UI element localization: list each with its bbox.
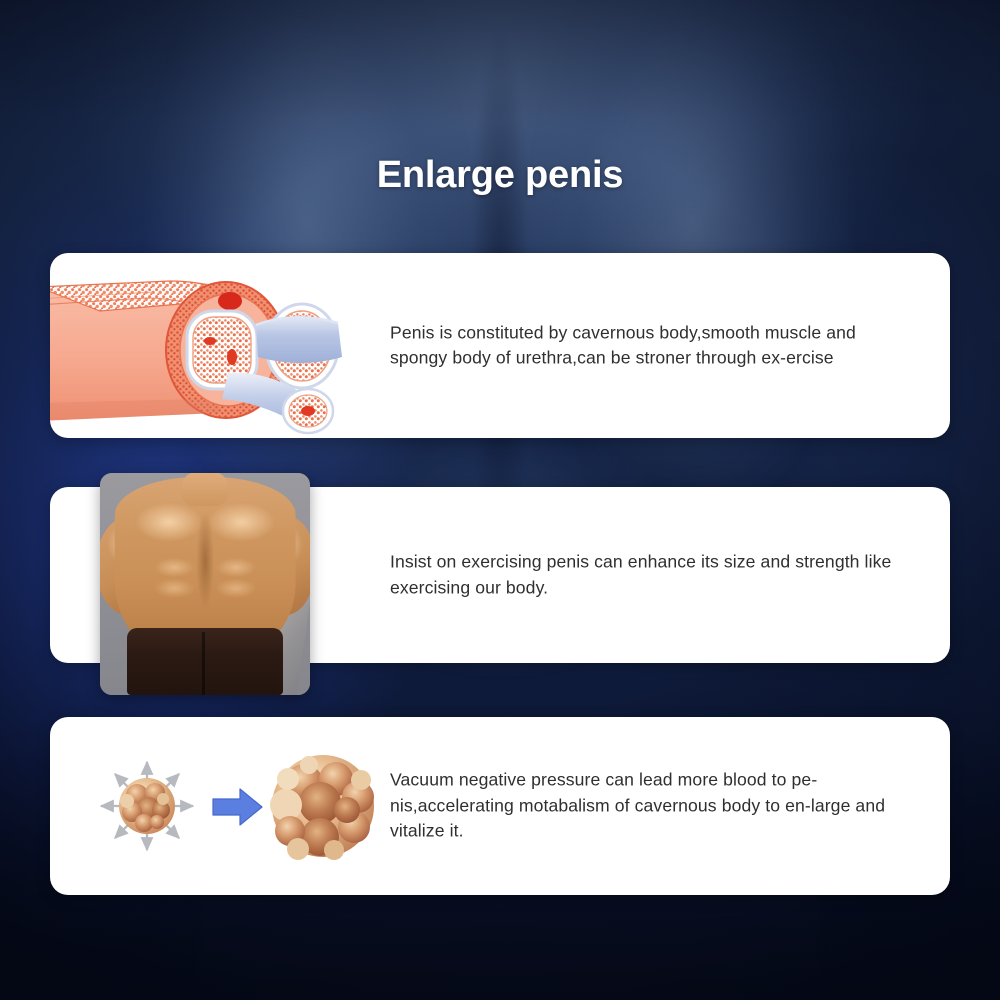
card-3-description: Vacuum negative pressure can lead more b… [390,767,908,844]
photo-neck [182,473,228,506]
cell-cluster-expansion-illustration [58,717,388,895]
blue-arrow [213,789,262,825]
card-2-description: Insist on exercising penis can enhance i… [390,549,908,600]
card-1-description: Penis is constituted by cavernous body,s… [390,320,908,371]
feature-card-vacuum: Vacuum negative pressure can lead more b… [50,717,950,895]
promotional-infographic-page: Enlarge penis in a physically safe metho… [0,0,1000,1000]
feature-card-anatomy: Penis is constituted by cavernous body,s… [50,253,950,438]
headline-line-1: Enlarge penis [0,150,1000,200]
muscular-male-torso-photo [100,473,310,695]
photo-shorts [127,628,282,695]
penis-cross-section-anatomy-illustration [50,253,342,438]
